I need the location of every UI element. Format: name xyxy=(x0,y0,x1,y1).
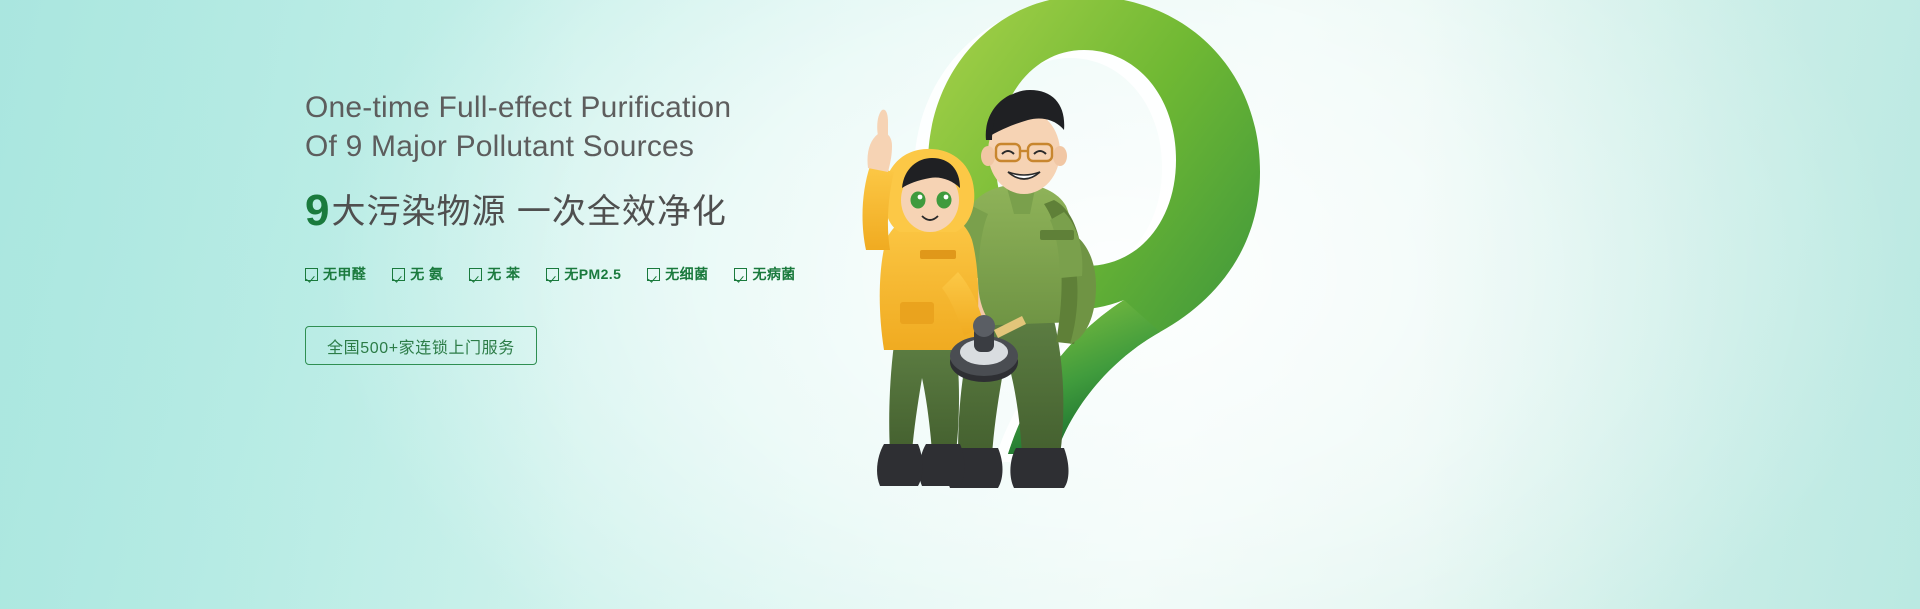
check-box-icon xyxy=(647,268,660,281)
headline-chinese: 9大污染物源 一次全效净化 xyxy=(305,189,1085,234)
headline-chinese-text: 大污染物源 一次全效净化 xyxy=(331,193,726,231)
headline-english: One-time Full-effect Purification Of 9 M… xyxy=(305,88,1085,166)
feature-tag-label: 无病菌 xyxy=(752,264,795,284)
check-box-icon xyxy=(546,268,559,281)
feature-tag: 无细菌 xyxy=(647,264,708,284)
feature-tag-label: 无 氨 xyxy=(410,264,443,284)
feature-tag: 无PM2.5 xyxy=(546,264,621,284)
check-box-icon xyxy=(734,268,747,281)
feature-tag-label: 无PM2.5 xyxy=(564,264,621,284)
check-box-icon xyxy=(392,268,405,281)
promo-banner: One-time Full-effect Purification Of 9 M… xyxy=(0,0,1920,609)
headline-number: 9 xyxy=(305,186,330,235)
banner-copy: One-time Full-effect Purification Of 9 M… xyxy=(305,88,1085,365)
feature-tag-label: 无 苯 xyxy=(487,264,520,284)
feature-tag: 无甲醛 xyxy=(305,264,366,284)
feature-tag-label: 无甲醛 xyxy=(323,264,366,284)
feature-tag: 无 氨 xyxy=(392,264,443,284)
check-box-icon xyxy=(469,268,482,281)
feature-tag-label: 无细菌 xyxy=(665,264,708,284)
feature-tag: 无 苯 xyxy=(469,264,520,284)
nationwide-service-button[interactable]: 全国500+家连锁上门服务 xyxy=(305,326,537,365)
feature-tag: 无病菌 xyxy=(734,264,795,284)
check-box-icon xyxy=(305,268,318,281)
feature-tag-list: 无甲醛 无 氨 无 苯 无PM2.5 无细菌 无病菌 xyxy=(305,264,1085,284)
